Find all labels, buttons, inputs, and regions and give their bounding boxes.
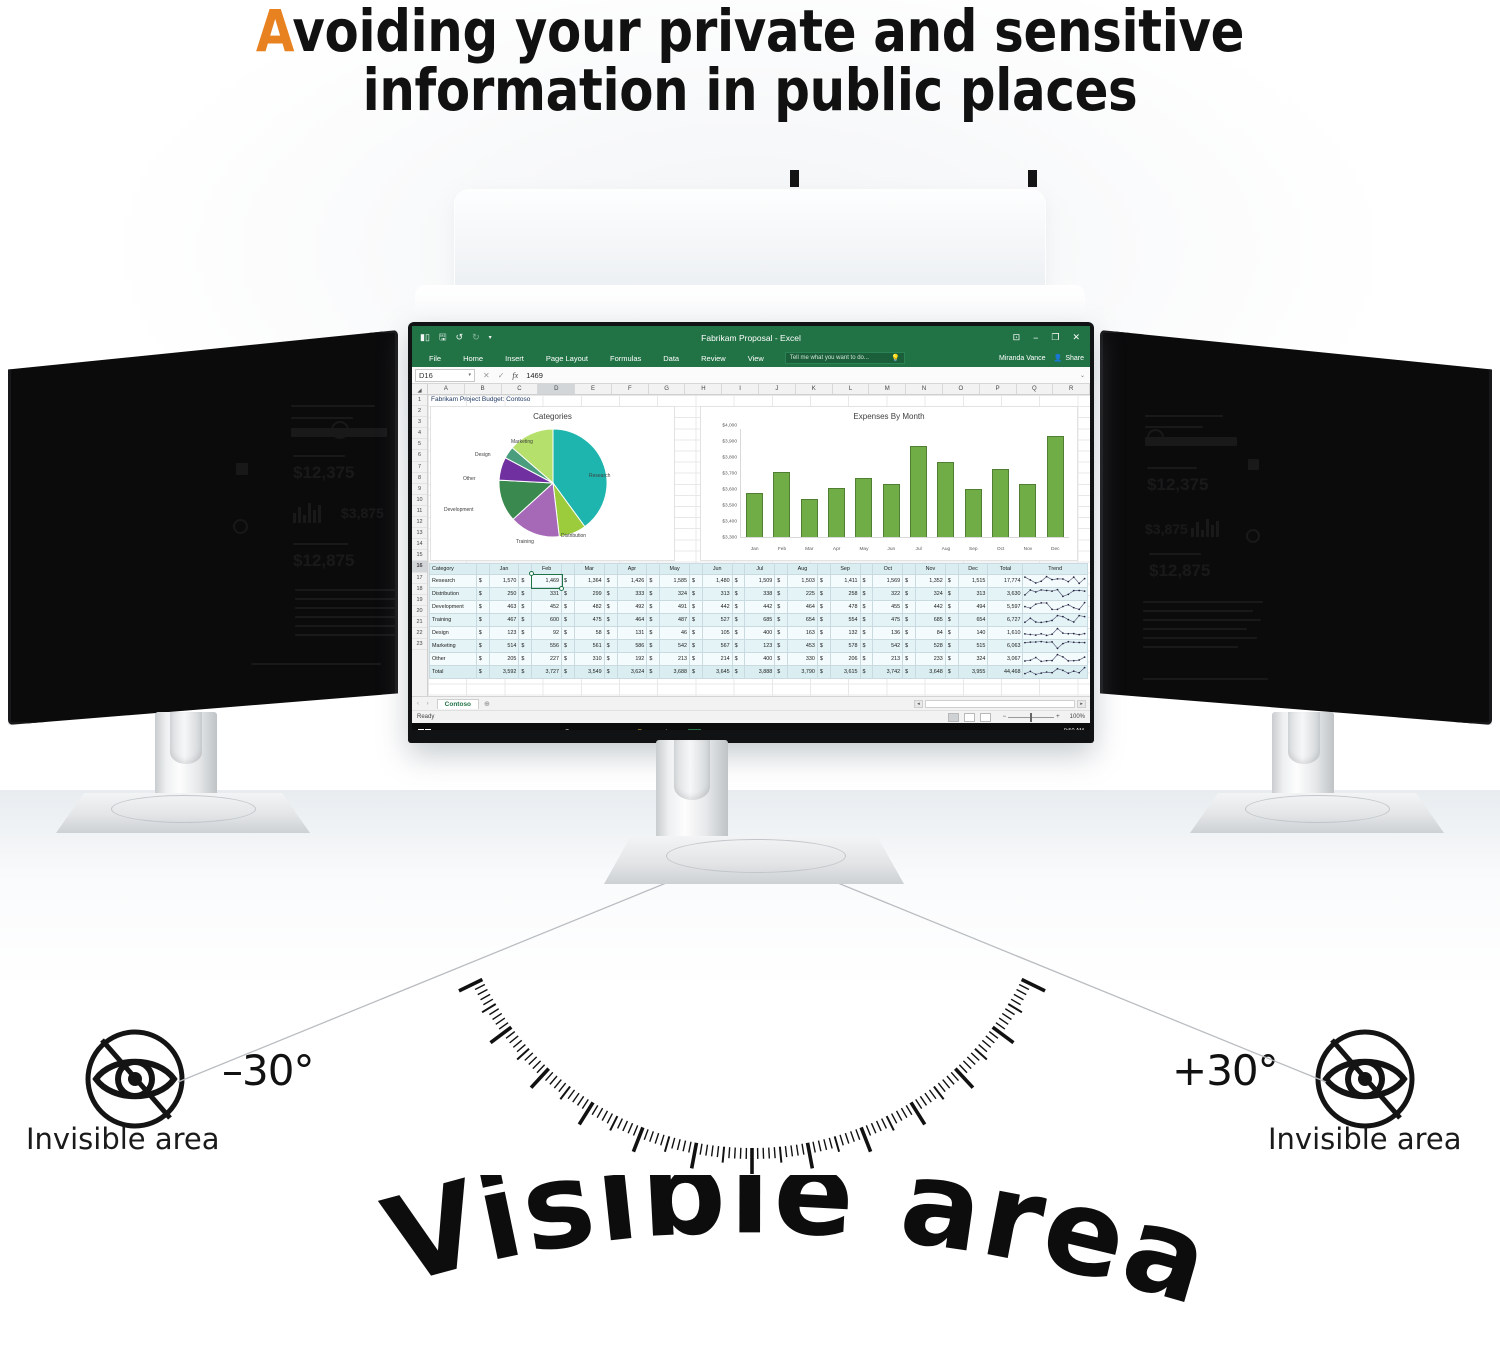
table-cell-currency: $ <box>647 614 660 627</box>
zoom-knob[interactable] <box>1030 713 1032 722</box>
table-row[interactable]: Design$123$92$58$131$46$105$400$163$132$… <box>430 627 1088 640</box>
table-cell-value[interactable]: 561 <box>574 640 604 653</box>
account-area[interactable]: Miranda Vance 👤 Share <box>999 354 1090 362</box>
table-cell-value[interactable]: 475 <box>873 614 903 627</box>
table-cell-value[interactable]: 131 <box>617 627 647 640</box>
column-header-r[interactable]: R <box>1053 384 1090 394</box>
ribbon-tab-bar[interactable]: File Home Insert Page Layout Formulas Da… <box>412 349 1090 367</box>
table-cell-sparkline[interactable] <box>1023 653 1088 666</box>
left-monitor-ghost-content: $12,375 $3,875 $12,875 <box>11 333 395 722</box>
table-cell-value[interactable]: 467 <box>489 614 519 627</box>
table-cell-currency: $ <box>775 601 788 614</box>
table-cell-value[interactable]: 192 <box>617 653 647 666</box>
table-cell-value[interactable]: 400 <box>745 653 775 666</box>
table-cell-value[interactable]: 1,426 <box>617 575 647 588</box>
table-cell-value[interactable]: 84 <box>916 627 946 640</box>
tab-review[interactable]: Review <box>690 354 737 363</box>
center-monitor-stand-cutout <box>674 740 710 800</box>
table-cell-currency: $ <box>562 666 575 679</box>
table-cell-value[interactable]: 478 <box>830 601 860 614</box>
normal-view-button[interactable] <box>948 713 959 722</box>
page-layout-view-button[interactable] <box>964 713 975 722</box>
table-cell-value[interactable]: 123 <box>489 627 519 640</box>
row-header-4[interactable]: 4 <box>412 428 427 439</box>
column-header-j[interactable]: J <box>759 384 796 394</box>
table-cell-value[interactable]: 324 <box>916 588 946 601</box>
table-cell-value[interactable]: 455 <box>873 601 903 614</box>
table-cell-total[interactable]: 1,610 <box>988 627 1023 640</box>
pie-chart-title: Categories <box>431 407 674 421</box>
table-cell-value[interactable]: 1,364 <box>574 575 604 588</box>
column-header-b[interactable]: B <box>465 384 502 394</box>
table-cell-value[interactable]: 324 <box>660 588 690 601</box>
table-cell-sparkline[interactable] <box>1023 601 1088 614</box>
protractor-minor-tick <box>999 1018 1008 1024</box>
horizontal-scrollbar[interactable]: ◂ ▸ <box>914 700 1090 708</box>
table-cell-value[interactable]: 464 <box>788 601 818 614</box>
table-cell-value[interactable]: 3,742 <box>873 666 903 679</box>
table-header-oct: Oct <box>873 564 903 575</box>
protractor-minor-tick <box>929 1090 936 1099</box>
table-cell-value[interactable]: 554 <box>830 614 860 627</box>
row-header-2[interactable]: 2 <box>412 406 427 417</box>
share-button[interactable]: 👤 Share <box>1054 354 1084 362</box>
table-cell-value[interactable]: 123 <box>745 640 775 653</box>
table-cell-value[interactable]: 600 <box>532 614 562 627</box>
row-header-8[interactable]: 8 <box>412 473 427 484</box>
table-row[interactable]: Other$205$227$310$192$213$214$400$330$20… <box>430 653 1088 666</box>
table-cell-value[interactable]: 586 <box>617 640 647 653</box>
account-name[interactable]: Miranda Vance <box>999 355 1046 362</box>
protractor-minor-tick <box>877 1121 882 1131</box>
cancel-icon[interactable]: ✕ <box>483 371 490 380</box>
table-cell-currency: $ <box>945 601 958 614</box>
table-cell-value[interactable]: 685 <box>745 614 775 627</box>
new-sheet-icon[interactable]: ⊕ <box>484 700 490 708</box>
table-cell-currency: $ <box>732 640 745 653</box>
column-header-a[interactable]: A <box>428 384 465 394</box>
table-cell-value[interactable]: 58 <box>574 627 604 640</box>
window-buttons[interactable]: ⊡ − ❐ ✕ <box>1013 332 1086 343</box>
column-header-g[interactable]: G <box>649 384 686 394</box>
table-cell-currency: $ <box>903 601 916 614</box>
task-view-icon[interactable]: ▭ <box>584 729 597 731</box>
table-cell-value[interactable]: 3,645 <box>702 666 732 679</box>
column-header-m[interactable]: M <box>869 384 906 394</box>
table-cell-category[interactable]: Research <box>430 575 477 588</box>
table-cell-value[interactable]: 514 <box>489 640 519 653</box>
table-cell-value[interactable]: 3,624 <box>617 666 647 679</box>
close-icon[interactable]: ✕ <box>1072 332 1080 343</box>
row-header-7[interactable]: 7 <box>412 462 427 473</box>
table-header-spacer <box>689 564 702 575</box>
row-header-12[interactable]: 12 <box>412 517 427 528</box>
table-cell-sparkline[interactable] <box>1023 640 1088 653</box>
table-row[interactable]: Total$3,592$3,727$3,549$3,624$3,688$3,64… <box>430 666 1088 679</box>
table-row[interactable]: Marketing$514$556$561$586$542$567$123$45… <box>430 640 1088 653</box>
person-icon: 👤 <box>1054 354 1063 362</box>
table-cell-value[interactable]: 442 <box>916 601 946 614</box>
cell-a1-title[interactable]: Fabrikam Project Budget: Contoso <box>431 396 530 403</box>
start-icon[interactable] <box>418 729 431 731</box>
table-cell-value[interactable]: 491 <box>660 601 690 614</box>
lightbulb-icon: 💡 <box>891 354 900 362</box>
table-cell-sparkline[interactable] <box>1023 575 1088 588</box>
autosave-icon[interactable]: ▮▯ <box>420 333 430 342</box>
column-header-c[interactable]: C <box>502 384 539 394</box>
table-cell-sparkline[interactable] <box>1023 614 1088 627</box>
row-header-21[interactable]: 21 <box>412 617 427 628</box>
table-cell-value[interactable]: 140 <box>958 627 988 640</box>
column-header-i[interactable]: I <box>722 384 759 394</box>
row-header-1[interactable]: 1 <box>412 395 427 406</box>
table-cell-value[interactable]: 494 <box>958 601 988 614</box>
table-cell-currency: $ <box>562 614 575 627</box>
table-cell-value[interactable]: 463 <box>489 601 519 614</box>
table-cell-value[interactable]: 442 <box>745 601 775 614</box>
undo-icon[interactable]: ↺ <box>456 333 464 342</box>
table-cell-currency: $ <box>732 601 745 614</box>
row-header-23[interactable]: 23 <box>412 639 427 650</box>
column-header-q[interactable]: Q <box>1017 384 1054 394</box>
row-header-column[interactable]: 1234567891011121314151617181920212223 <box>412 395 428 696</box>
protractor-minor-tick <box>706 1145 708 1156</box>
pie-label-design: Design <box>475 452 491 458</box>
table-cell-value[interactable]: 542 <box>660 640 690 653</box>
row-header-5[interactable]: 5 <box>412 439 427 450</box>
table-cell-value[interactable]: 528 <box>916 640 946 653</box>
windows-taskbar[interactable]: Ask me anything 🎤 ▭ e 🗀 🛍 X ⌃ ▤ ☁ 🔊 ▣ <box>412 723 1090 730</box>
table-cell-currency: $ <box>604 588 617 601</box>
table-row[interactable]: Development$463$452$482$492$491$442$442$… <box>430 601 1088 614</box>
view-buttons[interactable]: − + 100% <box>948 713 1085 722</box>
protractor-minor-tick <box>916 1099 922 1108</box>
scroll-track[interactable] <box>925 700 1075 708</box>
table-cell-value[interactable]: 556 <box>532 640 562 653</box>
table-cell-currency: $ <box>519 614 532 627</box>
row-header-11[interactable]: 11 <box>412 506 427 517</box>
table-cell-value[interactable]: 1,569 <box>873 575 903 588</box>
table-cell-category[interactable]: Marketing <box>430 640 477 653</box>
table-cell-value[interactable]: 1,503 <box>788 575 818 588</box>
table-cell-value[interactable]: 46 <box>660 627 690 640</box>
tab-home[interactable]: Home <box>452 354 494 363</box>
table-cell-total[interactable]: 3,630 <box>988 588 1023 601</box>
table-cell-value[interactable]: 475 <box>574 614 604 627</box>
protractor-minor-tick <box>947 1076 954 1084</box>
table-cell-value[interactable]: 330 <box>788 653 818 666</box>
table-cell-value[interactable]: 227 <box>532 653 562 666</box>
table-header-spacer <box>476 564 489 575</box>
table-cell-value[interactable]: 322 <box>873 588 903 601</box>
table-cell-value[interactable]: 482 <box>574 601 604 614</box>
table-body[interactable]: Research$1,570$1,469$1,364$1,426$1,585$1… <box>430 575 1088 679</box>
bar-xtick-jul: Jul <box>910 547 927 552</box>
table-cell-currency: $ <box>817 588 830 601</box>
bar-xtick-may: May <box>855 547 872 552</box>
table-cell-currency: $ <box>476 627 489 640</box>
table-cell-value[interactable]: 313 <box>958 588 988 601</box>
row-header-13[interactable]: 13 <box>412 528 427 539</box>
table-cell-value[interactable]: 567 <box>702 640 732 653</box>
row-header-17[interactable]: 17 <box>412 573 427 584</box>
table-cell-value[interactable]: 225 <box>788 588 818 601</box>
protractor-minor-tick <box>554 1080 561 1088</box>
table-cell-value[interactable]: 3,549 <box>574 666 604 679</box>
row-header-6[interactable]: 6 <box>412 450 427 461</box>
table-cell-value[interactable]: 1,585 <box>660 575 690 588</box>
table-cell-value[interactable]: 324 <box>958 653 988 666</box>
scroll-right-icon[interactable]: ▸ <box>1077 700 1086 708</box>
selection-handle-top[interactable] <box>529 571 534 576</box>
table-cell-currency: $ <box>945 614 958 627</box>
table-cell-value[interactable]: 654 <box>958 614 988 627</box>
table-cell-category[interactable]: Design <box>430 627 477 640</box>
table-cell-value[interactable]: 1,570 <box>489 575 519 588</box>
table-header-spacer <box>860 564 873 575</box>
table-cell-value[interactable]: 515 <box>958 640 988 653</box>
tab-view[interactable]: View <box>737 354 775 363</box>
tab-page-layout[interactable]: Page Layout <box>535 354 599 363</box>
table-cell-value[interactable]: 213 <box>660 653 690 666</box>
table-cell-value[interactable]: 206 <box>830 653 860 666</box>
column-header-h[interactable]: H <box>685 384 722 394</box>
table-cell-value[interactable]: 205 <box>489 653 519 666</box>
table-cell-value[interactable]: 442 <box>702 601 732 614</box>
table-cell-value[interactable]: 136 <box>873 627 903 640</box>
column-header-o[interactable]: O <box>943 384 980 394</box>
table-cell-value[interactable]: 213 <box>873 653 903 666</box>
table-cell-sparkline[interactable] <box>1023 627 1088 640</box>
table-cell-value[interactable]: 338 <box>745 588 775 601</box>
tab-formulas[interactable]: Formulas <box>599 354 652 363</box>
quick-access-toolbar[interactable]: ▮▯ 🖫 ↺ ↻ ▾ <box>416 333 492 342</box>
protractor-minor-tick <box>592 1105 598 1114</box>
table-cell-category[interactable]: Development <box>430 601 477 614</box>
table-cell-value[interactable]: 3,888 <box>745 666 775 679</box>
table-cell-category[interactable]: Distribution <box>430 588 477 601</box>
table-cell-value[interactable]: 1,411 <box>830 575 860 588</box>
table-cell-value[interactable]: 453 <box>788 640 818 653</box>
minimize-icon[interactable]: − <box>1033 333 1038 343</box>
table-cell-value[interactable]: 3,688 <box>660 666 690 679</box>
center-monitor-stand-base <box>604 836 904 884</box>
row-header-10[interactable]: 10 <box>412 495 427 506</box>
table-cell-value[interactable]: 1,480 <box>702 575 732 588</box>
table-header-jul: Jul <box>745 564 775 575</box>
bar-dec <box>1047 436 1064 538</box>
table-cell-currency: $ <box>604 640 617 653</box>
table-cell-value[interactable]: 310 <box>574 653 604 666</box>
redo-icon[interactable]: ↻ <box>472 333 480 342</box>
column-header-e[interactable]: E <box>575 384 612 394</box>
table-cell-value[interactable]: 214 <box>702 653 732 666</box>
ribbon-options-icon[interactable]: ⊡ <box>1013 332 1021 343</box>
zoom-in-icon[interactable]: + <box>1056 714 1060 720</box>
enter-icon[interactable]: ✓ <box>498 371 505 380</box>
table-cell-sparkline[interactable] <box>1023 588 1088 601</box>
table-cell-value[interactable]: 163 <box>788 627 818 640</box>
table-cell-value[interactable]: 1,469 <box>532 575 562 588</box>
table-cell-value[interactable]: 250 <box>489 588 519 601</box>
table-cell-value[interactable]: 258 <box>830 588 860 601</box>
table-cell-value[interactable]: 487 <box>660 614 690 627</box>
row-header-22[interactable]: 22 <box>412 628 427 639</box>
table-cell-currency: $ <box>903 614 916 627</box>
table-cell-value[interactable]: 3,727 <box>532 666 562 679</box>
table-cell-total[interactable]: 3,067 <box>988 653 1023 666</box>
table-cell-value[interactable]: 542 <box>873 640 903 653</box>
store-icon[interactable]: 🛍 <box>662 729 675 731</box>
table-cell-value[interactable]: 527 <box>702 614 732 627</box>
system-tray[interactable]: ⌃ ▤ ☁ 🔊 ▣ 9:50 AM 10/6/2015 <box>975 728 1084 730</box>
select-all-corner[interactable]: ◢ <box>412 384 428 394</box>
edge-icon[interactable]: e <box>610 729 623 731</box>
insert-function-icon[interactable]: fx <box>512 371 518 380</box>
formula-expand-icon[interactable]: ⌄ <box>1080 372 1090 379</box>
table-cell-value[interactable]: 3,790 <box>788 666 818 679</box>
table-cell-value[interactable]: 3,955 <box>958 666 988 679</box>
protractor-minor-tick <box>582 1099 588 1108</box>
row-header-16[interactable]: 16 <box>412 561 427 572</box>
protractor-minor-tick <box>478 989 488 994</box>
pie-chart[interactable]: Categories Research Distribution Trainin… <box>430 406 675 561</box>
protractor-major-tick <box>1022 980 1045 991</box>
column-header-n[interactable]: N <box>906 384 943 394</box>
budget-table[interactable]: CategoryJanFebMarAprMayJunJulAugSepOctNo… <box>429 563 1088 679</box>
table-cell-value[interactable]: 105 <box>702 627 732 640</box>
table-cell-value[interactable]: 492 <box>617 601 647 614</box>
table-cell-value[interactable]: 1,509 <box>745 575 775 588</box>
protractor-minor-tick <box>610 1116 617 1130</box>
table-cell-total[interactable]: 5,597 <box>988 601 1023 614</box>
protractor-minor-tick <box>618 1119 623 1129</box>
table-cell-total[interactable]: 17,774 <box>988 575 1023 588</box>
table-header-category: Category <box>430 564 477 575</box>
zoom-slider[interactable]: − + <box>1003 714 1060 720</box>
bar-chart-plot <box>741 429 1069 538</box>
file-explorer-icon[interactable]: 🗀 <box>636 729 649 731</box>
table-cell-value[interactable]: 3,592 <box>489 666 519 679</box>
column-header-k[interactable]: K <box>796 384 833 394</box>
table-cell-value[interactable]: 132 <box>830 627 860 640</box>
page-break-view-button[interactable] <box>980 713 991 722</box>
table-header-spacer <box>732 564 745 575</box>
protractor-minor-tick <box>597 1108 602 1118</box>
formula-input[interactable]: 1469 <box>526 371 1080 380</box>
table-cell-value[interactable]: 331 <box>532 588 562 601</box>
table-cell-currency: $ <box>604 666 617 679</box>
table-cell-value[interactable]: 299 <box>574 588 604 601</box>
sheet-tab-contoso[interactable]: Contoso <box>437 699 479 709</box>
column-header-l[interactable]: L <box>833 384 870 394</box>
table-row[interactable]: Research$1,570$1,469$1,364$1,426$1,585$1… <box>430 575 1088 588</box>
table-cell-currency: $ <box>903 653 916 666</box>
excel-icon[interactable]: X <box>688 729 701 731</box>
column-header-cells[interactable]: ABCDEFGHIJKLMNOPQR <box>428 384 1090 394</box>
name-box[interactable]: D16 ▾ <box>415 369 475 382</box>
bar-chart[interactable]: Expenses By Month $4,000$3,900$3,800$3,7… <box>700 406 1078 561</box>
table-cell-value[interactable]: 3,648 <box>916 666 946 679</box>
table-row[interactable]: Distribution$250$331$299$333$324$313$338… <box>430 588 1088 601</box>
protractor-minor-tick <box>623 1121 628 1131</box>
name-box-chevron-icon[interactable]: ▾ <box>468 372 471 378</box>
row-header-9[interactable]: 9 <box>412 484 427 495</box>
taskbar-icons[interactable]: 🎤 ▭ e 🗀 🛍 X <box>558 729 701 731</box>
table-cell-value[interactable]: 654 <box>788 614 818 627</box>
table-cell-value[interactable]: 464 <box>617 614 647 627</box>
row-header-3[interactable]: 3 <box>412 417 427 428</box>
protractor-minor-tick <box>517 1045 525 1052</box>
center-monitor: ▮▯ 🖫 ↺ ↻ ▾ Fabrikam Proposal - Excel ⊡ −… <box>408 322 1094 743</box>
customize-qat-icon[interactable]: ▾ <box>489 335 492 341</box>
protractor-minor-tick <box>628 1123 632 1133</box>
sheet-tab-bar[interactable]: ‹ › Contoso ⊕ ◂ ▸ <box>412 696 1090 710</box>
row-header-14[interactable]: 14 <box>412 539 427 550</box>
column-header-d[interactable]: D <box>538 384 575 394</box>
table-cell-currency: $ <box>476 614 489 627</box>
bar-ytick-4: $3,600 <box>722 488 737 493</box>
table-cell-value[interactable]: 400 <box>745 627 775 640</box>
table-cell-value[interactable]: 578 <box>830 640 860 653</box>
table-cell-currency: $ <box>945 588 958 601</box>
table-cell-value[interactable]: 1,352 <box>916 575 946 588</box>
row-header-15[interactable]: 15 <box>412 550 427 561</box>
table-cell-value[interactable]: 452 <box>532 601 562 614</box>
row-header-20[interactable]: 20 <box>412 606 427 617</box>
microphone-icon[interactable]: 🎤 <box>558 729 571 731</box>
table-cell-category[interactable]: Other <box>430 653 477 666</box>
table-cell-category[interactable]: Training <box>430 614 477 627</box>
zoom-out-icon[interactable]: − <box>1003 714 1007 720</box>
table-cell-value[interactable]: 92 <box>532 627 562 640</box>
protractor-minor-tick <box>573 1093 579 1102</box>
clock[interactable]: 9:50 AM 10/6/2015 <box>1060 728 1084 730</box>
tab-insert[interactable]: Insert <box>494 354 535 363</box>
table-cell-value[interactable]: 685 <box>916 614 946 627</box>
table-cell-value[interactable]: 313 <box>702 588 732 601</box>
column-header-f[interactable]: F <box>612 384 649 394</box>
save-icon[interactable]: 🖫 <box>439 333 447 342</box>
row-header-18[interactable]: 18 <box>412 584 427 595</box>
restore-icon[interactable]: ❐ <box>1051 332 1059 343</box>
zoom-track[interactable] <box>1008 717 1054 718</box>
formula-bar-controls[interactable]: ✕ ✓ fx <box>475 371 526 380</box>
scroll-left-icon[interactable]: ◂ <box>914 700 923 708</box>
table-cell-currency: $ <box>476 575 489 588</box>
tab-data[interactable]: Data <box>652 354 690 363</box>
column-header-p[interactable]: P <box>980 384 1017 394</box>
table-cell-value[interactable]: 333 <box>617 588 647 601</box>
table-cell-total[interactable]: 44,468 <box>988 666 1023 679</box>
tell-me-search[interactable]: Tell me what you want to do... 💡 <box>785 352 905 364</box>
table-cell-category[interactable]: Total <box>430 666 477 679</box>
sheet-grid-area[interactable]: Fabrikam Project Budget: Contoso Categor… <box>428 395 1090 696</box>
zoom-percent[interactable]: 100% <box>1070 714 1085 720</box>
sheet-nav-arrows-icon[interactable]: ‹ › <box>417 701 432 707</box>
row-header-19[interactable]: 19 <box>412 595 427 606</box>
table-cell-total[interactable]: 6,063 <box>988 640 1023 653</box>
table-cell-total[interactable]: 6,727 <box>988 614 1023 627</box>
table-cell-value[interactable]: 3,615 <box>830 666 860 679</box>
table-cell-currency: $ <box>562 640 575 653</box>
table-row[interactable]: Training$467$600$475$464$487$527$685$654… <box>430 614 1088 627</box>
table-cell-sparkline[interactable] <box>1023 666 1088 679</box>
table-cell-value[interactable]: 233 <box>916 653 946 666</box>
table-cell-currency: $ <box>519 575 532 588</box>
tab-file[interactable]: File <box>418 354 452 363</box>
table-cell-value[interactable]: 1,515 <box>958 575 988 588</box>
